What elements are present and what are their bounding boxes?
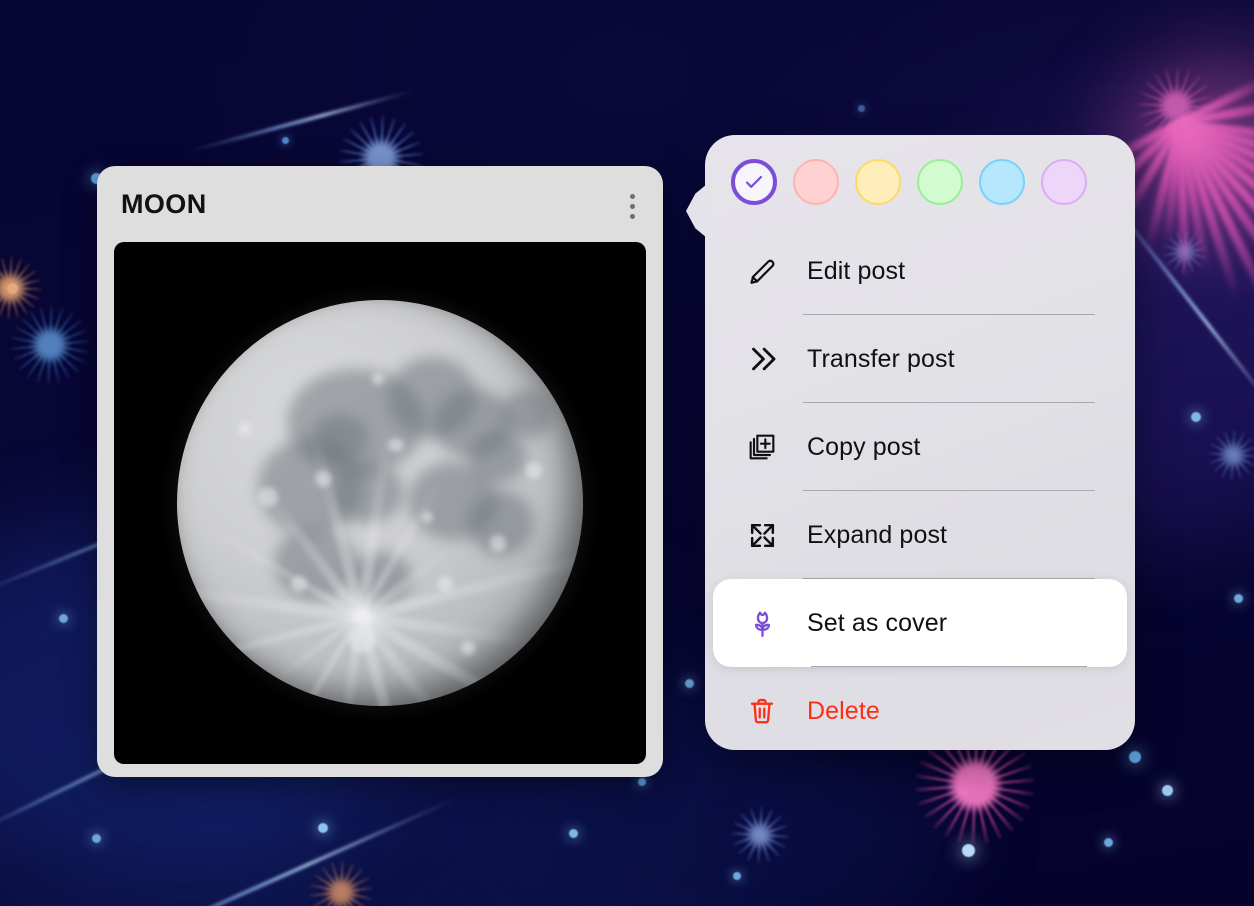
moon-crater (526, 462, 542, 478)
post-photo[interactable] (114, 242, 646, 764)
menu-item-delete[interactable]: Delete (705, 667, 1135, 755)
menu-item-expand-post[interactable]: Expand post (705, 491, 1135, 579)
moon-image (177, 300, 583, 706)
moon-crater (490, 535, 506, 551)
pencil-icon (733, 255, 791, 288)
swatch-selected[interactable] (731, 159, 777, 205)
expand-arrows-icon (733, 520, 791, 551)
post-card-header: MOON (97, 166, 663, 242)
menu-item-transfer-post[interactable]: Transfer post (705, 315, 1135, 403)
swatch-red[interactable] (793, 159, 839, 205)
swatch-yellow[interactable] (855, 159, 901, 205)
menu-item-label: Delete (807, 697, 880, 726)
swatch-blue[interactable] (979, 159, 1025, 205)
moon-crater (421, 511, 433, 523)
menu-item-copy-post[interactable]: Copy post (705, 403, 1135, 491)
menu-item-label: Transfer post (807, 345, 955, 374)
tulip-icon (733, 607, 791, 640)
context-menu-panel: Edit postTransfer postCopy postExpand po… (705, 135, 1135, 750)
moon-mare (502, 389, 555, 438)
post-card[interactable]: MOON (97, 166, 663, 777)
swatch-purple[interactable] (1041, 159, 1087, 205)
post-title: MOON (121, 191, 207, 218)
menu-item-edit-post[interactable]: Edit post (705, 227, 1135, 315)
menu-item-label: Set as cover (807, 609, 947, 638)
trash-icon (733, 695, 791, 727)
moon-crater (315, 471, 331, 487)
kebab-menu-icon[interactable] (618, 188, 646, 224)
kebab-dot (630, 194, 635, 199)
menu-item-label: Expand post (807, 521, 947, 550)
menu-item-label: Edit post (807, 257, 905, 286)
color-swatch-row (705, 159, 1135, 205)
moon-crater (238, 422, 252, 436)
context-menu-list: Edit postTransfer postCopy postExpand po… (705, 227, 1135, 755)
swatch-green[interactable] (917, 159, 963, 205)
double-chevron-right-icon (733, 342, 791, 376)
menu-item-set-as-cover[interactable]: Set as cover (713, 579, 1127, 667)
moon-crater (348, 625, 376, 653)
copy-plus-icon (733, 431, 791, 463)
kebab-dot (630, 214, 635, 219)
kebab-dot (630, 204, 635, 209)
app-root: MOON Edit postTransfer postCopy postExpa… (0, 0, 1254, 906)
menu-item-label: Copy post (807, 433, 920, 462)
